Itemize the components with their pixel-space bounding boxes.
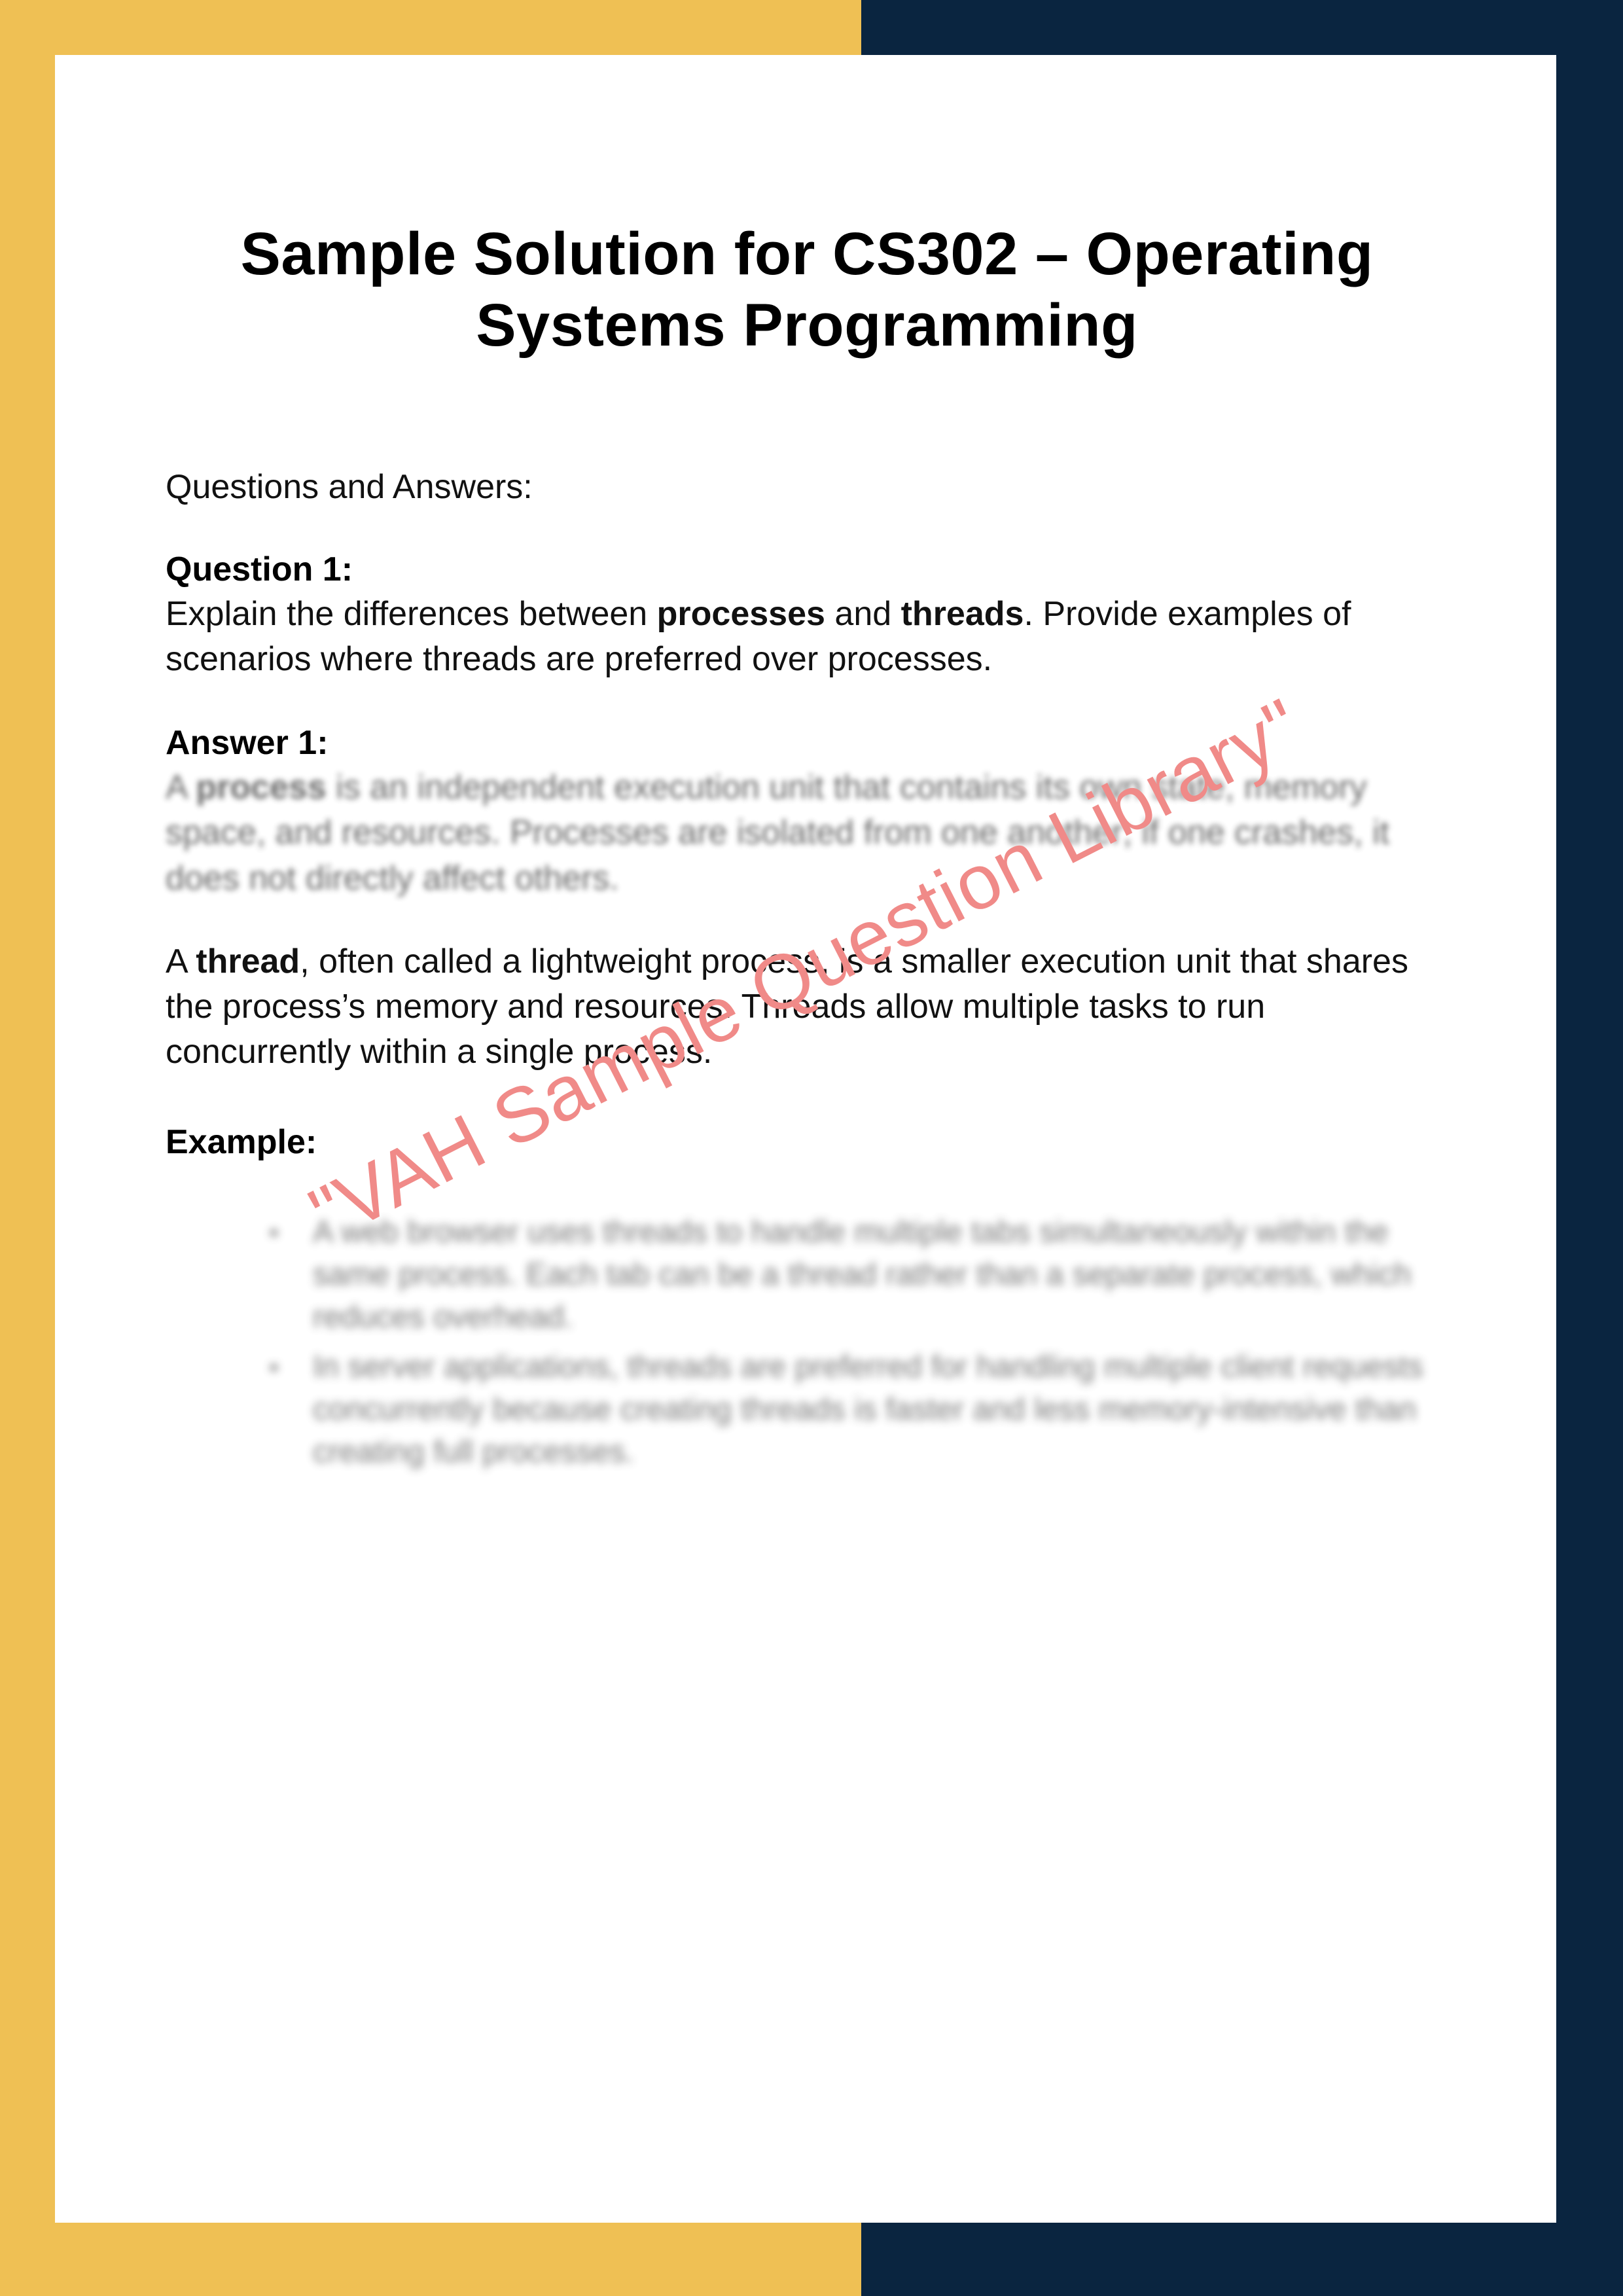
answer-1-text-part: , often called a lightweight process, is… (166, 942, 1408, 1071)
page-content-area: Sample Solution for CS302 – Operating Sy… (166, 55, 1448, 2223)
question-1-text-part: Explain the differences between (166, 595, 657, 633)
answer-1-bold-thread: thread (196, 942, 300, 980)
question-1-body: Explain the differences between processe… (166, 592, 1448, 682)
document-canvas: Sample Solution for CS302 – Operating Sy… (0, 0, 1623, 2296)
answer-1-heading: Answer 1: (166, 721, 1448, 766)
question-1-bold-threads: threads (901, 595, 1024, 633)
answer-1-paragraph-thread-wrap: A thread, often called a lightweight pro… (166, 901, 1448, 1075)
question-1-text-part: and (825, 595, 901, 633)
answer-1-text-part: A (166, 942, 196, 980)
example-heading: Example: (166, 1075, 1448, 1165)
answer-1-text-part: is an independent execution unit that co… (166, 768, 1389, 897)
intro-label: Questions and Answers: (166, 361, 1448, 509)
answer-1-bold-process: process (196, 768, 326, 806)
list-item: A web browser uses threads to handle mul… (166, 1211, 1448, 1339)
list-item: In server applications, threads are pref… (166, 1346, 1448, 1474)
question-1-heading: Question 1: (166, 547, 1448, 592)
section-question-1: Question 1: Explain the differences betw… (166, 509, 1448, 683)
answer-1-text-part: A (166, 768, 196, 806)
question-1-bold-processes: processes (657, 595, 825, 633)
page-title: Sample Solution for CS302 – Operating Sy… (166, 55, 1448, 361)
example-bullet-list: A web browser uses threads to handle mul… (166, 1165, 1448, 1474)
document-page: Sample Solution for CS302 – Operating Sy… (55, 55, 1556, 2223)
answer-1-paragraph-thread: A thread, often called a lightweight pro… (166, 939, 1448, 1075)
section-answer-1: Answer 1: A process is an independent ex… (166, 683, 1448, 901)
answer-1-paragraph-process: A process is an independent execution un… (166, 765, 1448, 901)
